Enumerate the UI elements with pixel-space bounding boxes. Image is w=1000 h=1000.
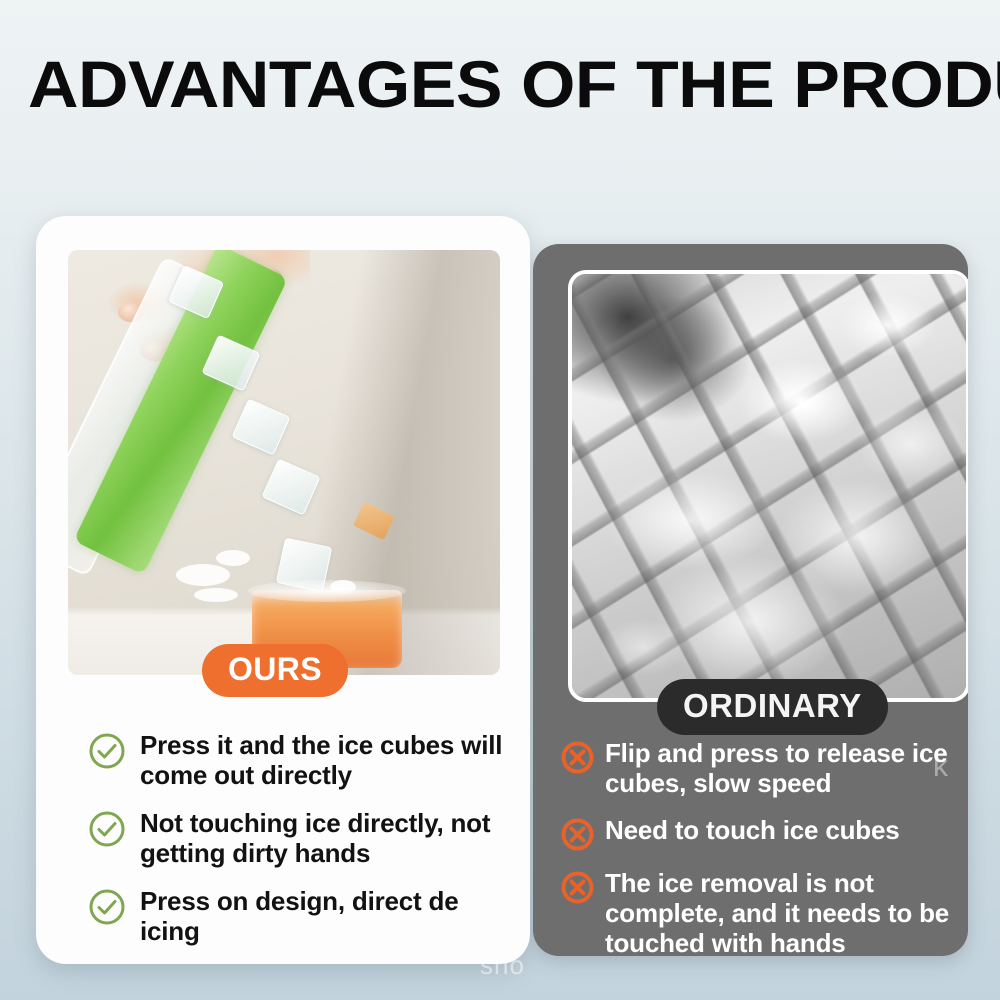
list-item-label: Flip and press to release ice cubes, slo…	[605, 738, 961, 798]
ordinary-photo-frame	[568, 270, 968, 702]
list-item: Press it and the ice cubes will come out…	[88, 730, 508, 790]
ordinary-bullet-list: Flip and press to release ice cubes, slo…	[561, 738, 961, 956]
list-item: Not touching ice directly, not getting d…	[88, 808, 508, 868]
ordinary-badge: ORDINARY	[657, 679, 888, 735]
product-advantages-poster: ADVANTAGES OF THE PRODUCT ORDINARY k Fli…	[0, 0, 1000, 1000]
ours-card: OURS Press it and the ice cubes will com…	[36, 216, 530, 964]
list-item-label: Not touching ice directly, not getting d…	[140, 808, 508, 868]
check-circle-icon	[88, 732, 126, 770]
list-item: Flip and press to release ice cubes, slo…	[561, 738, 961, 798]
check-circle-icon	[88, 810, 126, 848]
bottom-watermark: sho	[480, 952, 525, 978]
ice-cube	[261, 458, 320, 515]
water-splash	[216, 550, 250, 566]
ours-bullet-list: Press it and the ice cubes will come out…	[88, 730, 508, 946]
list-item-label: The ice removal is not complete, and it …	[605, 868, 961, 956]
ordinary-card: ORDINARY k Flip and press to release ice…	[533, 244, 968, 956]
cross-circle-icon	[561, 871, 594, 904]
page-title: ADVANTAGES OF THE PRODUCT	[28, 48, 1000, 120]
list-item-label: Press on design, direct de icing	[140, 886, 508, 946]
drink-glass-rim	[248, 580, 406, 602]
list-item-label: Press it and the ice cubes will come out…	[140, 730, 508, 790]
cross-circle-icon	[561, 741, 594, 774]
list-item: Need to touch ice cubes	[561, 815, 961, 851]
check-circle-icon	[88, 888, 126, 926]
ice-mold-tip	[353, 502, 395, 540]
ours-photo	[68, 250, 500, 675]
ordinary-photo	[572, 274, 966, 698]
list-item: The ice removal is not complete, and it …	[561, 868, 961, 956]
water-splash	[194, 588, 238, 602]
water-splash	[176, 564, 230, 586]
ours-photo-frame	[68, 250, 500, 675]
list-item-label: Need to touch ice cubes	[605, 815, 899, 845]
cross-circle-icon	[561, 818, 594, 851]
list-item: Press on design, direct de icing	[88, 886, 508, 946]
ours-badge: OURS	[202, 644, 348, 697]
